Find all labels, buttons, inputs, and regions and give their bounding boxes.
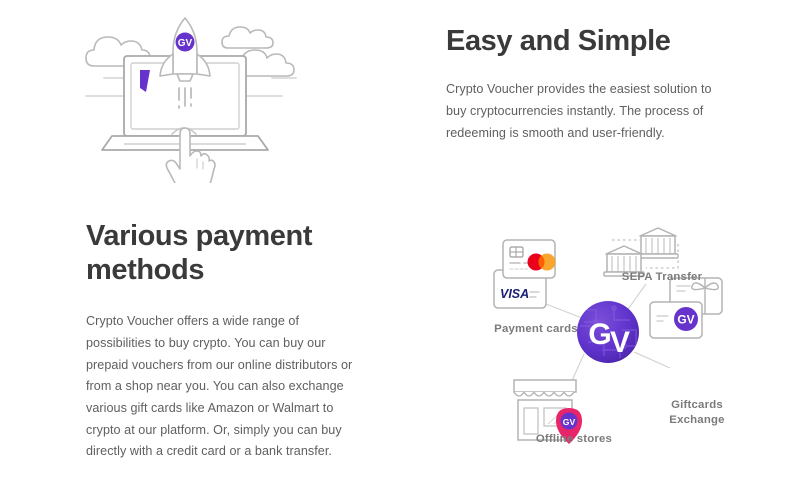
diagram-label-sepa-transfer: SEPA Transfer <box>602 270 722 285</box>
payment-methods-heading: Various payment methods <box>86 219 354 287</box>
svg-text:GV: GV <box>677 313 694 327</box>
laptop-rocket-illustration: GV <box>76 8 346 183</box>
easy-simple-section: Easy and Simple Crypto Voucher provides … <box>446 24 728 144</box>
svg-text:V: V <box>610 326 630 359</box>
payment-methods-diagram: VISA <box>462 222 752 472</box>
easy-simple-body: Crypto Voucher provides the easiest solu… <box>446 79 728 144</box>
marketing-page: GV Easy and Simple Crypto <box>0 0 800 500</box>
diagram-label-giftcards-exchange: Giftcards Exchange <box>644 398 750 428</box>
svg-text:GV: GV <box>178 38 193 49</box>
svg-text:GV: GV <box>563 417 576 427</box>
bank-transfer-icon <box>604 228 678 276</box>
visa-wordmark: VISA <box>500 287 529 301</box>
diagram-label-payment-cards: Payment cards <box>476 322 596 337</box>
payment-methods-body: Crypto Voucher offers a wide range of po… <box>86 311 354 463</box>
easy-simple-heading: Easy and Simple <box>446 24 728 58</box>
payment-methods-section: Various payment methods Crypto Voucher o… <box>86 219 354 463</box>
diagram-label-offline-stores: Offline stores <box>514 432 634 447</box>
giftcard-icon: GV <box>650 278 722 338</box>
credit-cards-icon: VISA <box>494 240 556 308</box>
